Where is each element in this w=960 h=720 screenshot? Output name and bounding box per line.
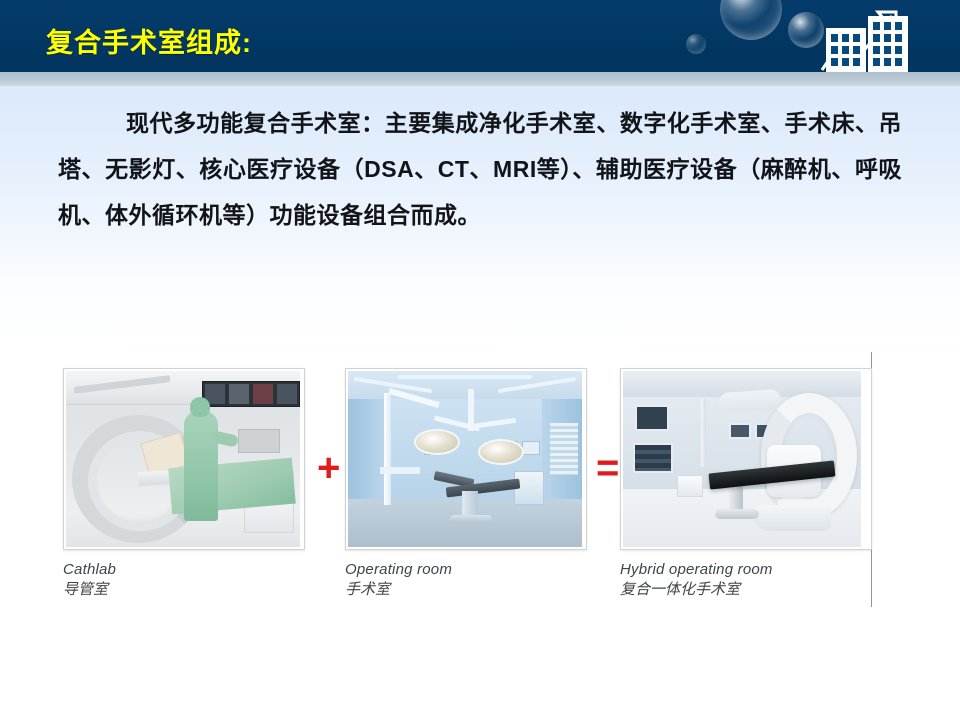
title-banner: 复合手术室组成:: [0, 0, 960, 72]
figure-cathlab: Cathlab 导管室: [63, 368, 305, 599]
page-title: 复合手术室组成:: [46, 21, 252, 60]
figure-caption: Operating room 手术室: [345, 560, 587, 599]
caption-en: Hybrid operating room: [620, 560, 872, 579]
equals-operator: =: [596, 448, 619, 488]
slide: 复合手术室组成: 现代多功能复合手术室：主要集成净化手术室、数字化手术室、手术床…: [0, 0, 960, 720]
buildings-growth-arrow-icon: [680, 0, 960, 72]
caption-zh: 手术室: [345, 579, 587, 599]
banner-underline: [0, 72, 960, 86]
figure-hybrid-operating-room: Hybrid operating room 复合一体化手术室: [620, 368, 872, 599]
figure-operating-room: Operating room 手术室: [345, 368, 587, 599]
header-decoration: [680, 0, 960, 72]
photo-frame: [345, 368, 587, 550]
operating-room-photo: [348, 371, 582, 547]
plus-operator: +: [317, 448, 340, 488]
figure-caption: Cathlab 导管室: [63, 560, 305, 599]
figure-group: Cathlab 导管室: [40, 350, 872, 608]
caption-en: Cathlab: [63, 560, 305, 579]
photo-frame: [63, 368, 305, 550]
figure-caption: Hybrid operating room 复合一体化手术室: [620, 560, 872, 599]
body-paragraph: 现代多功能复合手术室：主要集成净化手术室、数字化手术室、手术床、吊塔、无影灯、核…: [58, 100, 902, 238]
hybrid-operating-room-photo: [623, 371, 861, 547]
cathlab-photo: [66, 371, 300, 547]
caption-en: Operating room: [345, 560, 587, 579]
caption-zh: 导管室: [63, 579, 305, 599]
photo-frame: [620, 368, 872, 550]
caption-zh: 复合一体化手术室: [620, 579, 872, 599]
